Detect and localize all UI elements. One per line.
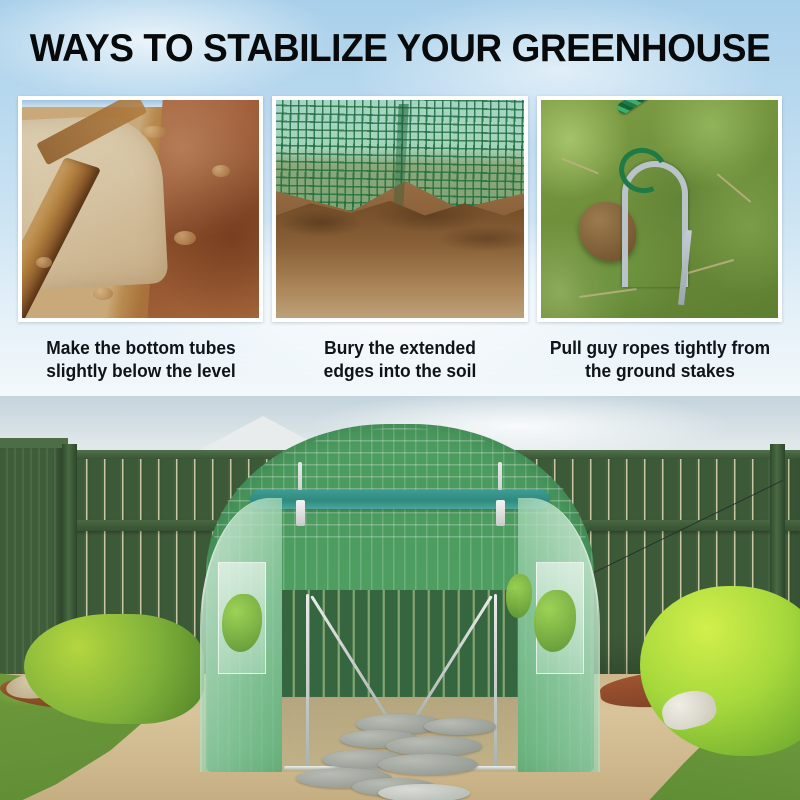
tip-photo-card-3: [537, 96, 782, 322]
greenhouse-rolled-flap: [250, 490, 550, 509]
fence-side-panel-cap: [0, 438, 68, 448]
photo1-soil-clod: [174, 231, 196, 245]
photo2-soil-mound: [276, 196, 524, 318]
stepping-stone: [424, 718, 496, 735]
top-infographic-section: WAYS TO STABILIZE YOUR GREENHOUSE: [0, 0, 800, 398]
greenhouse-flap-clip: [296, 500, 305, 526]
photo1-soil-clod: [93, 287, 113, 300]
tip-photo-row: [0, 96, 800, 322]
greenhouse-door-upright-right: [494, 594, 497, 770]
greenhouse-flap-clip: [496, 500, 505, 526]
stepping-stone: [378, 754, 478, 775]
tip-photo-card-1: [18, 96, 263, 322]
tip-caption-2-line2: edges into the soil: [280, 359, 521, 382]
tip-caption-3-line2: the ground stakes: [532, 359, 788, 382]
tip-caption-row: Make the bottom tubes slightly below the…: [0, 336, 800, 394]
tip-caption-2-line1: Bury the extended: [280, 336, 521, 359]
trench-soil-photo: [22, 100, 259, 318]
tip-caption-3-line1: Pull guy ropes tightly from: [532, 336, 788, 359]
tip-caption-3: Pull guy ropes tightly from the ground s…: [532, 336, 788, 382]
tip-caption-1: Make the bottom tubes slightly below the…: [18, 336, 264, 382]
tip-caption-2: Bury the extended edges into the soil: [280, 336, 521, 382]
greenhouse-door-upright-left: [306, 594, 309, 770]
stepping-stone: [378, 784, 470, 800]
ground-stake-rope-photo: [541, 100, 778, 318]
page-title: WAYS TO STABILIZE YOUR GREENHOUSE: [20, 27, 780, 71]
buried-mesh-edge-photo: [276, 100, 524, 318]
photo1-soil-clod: [141, 126, 167, 138]
tip-photo-card-2: [272, 96, 528, 322]
greenhouse-stabilize-infographic: WAYS TO STABILIZE YOUR GREENHOUSE: [0, 0, 800, 800]
stepping-stone: [386, 736, 482, 756]
tip-caption-1-line1: Make the bottom tubes: [18, 336, 264, 359]
tip-caption-1-line2: slightly below the level: [18, 359, 264, 382]
greenhouse-hero-photo: [0, 396, 800, 800]
